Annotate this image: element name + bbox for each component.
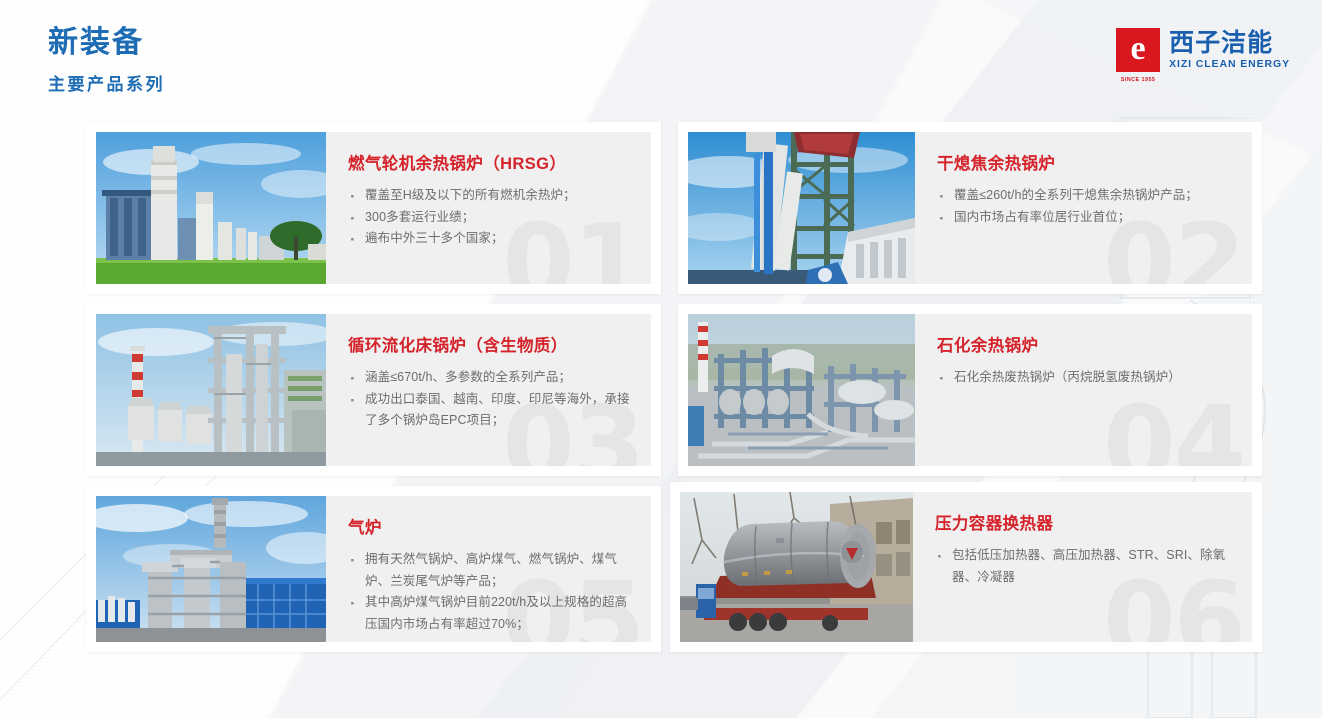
logo-name-en: XIZI CLEAN ENERGY bbox=[1169, 58, 1290, 70]
page-header: 新装备 主要产品系列 bbox=[48, 24, 165, 95]
product-card-grid: 燃气轮机余热锅炉（HRSG） 覆盖至H级及以下的所有燃机余热炉； 300多套运行… bbox=[86, 122, 1262, 652]
logo-name-cn: 西子洁能 bbox=[1169, 30, 1290, 56]
page-title: 新装备 bbox=[48, 24, 165, 62]
product-title: 循环流化床锅炉（含生物质） bbox=[348, 332, 635, 356]
list-item: 遍布中外三十多个国家； bbox=[348, 228, 635, 250]
logo-wordmark: 西子洁能 XIZI CLEAN ENERGY bbox=[1169, 30, 1290, 70]
product-title: 燃气轮机余热锅炉（HRSG） bbox=[348, 150, 635, 174]
product-bullet-list: 石化余热废热锅炉（丙烷脱氢废热锅炉） bbox=[937, 367, 1236, 389]
product-photo bbox=[96, 314, 326, 466]
product-bullet-list: 覆盖至H级及以下的所有燃机余热炉； 300多套运行业绩； 遍布中外三十多个国家； bbox=[348, 185, 635, 250]
list-item: 石化余热废热锅炉（丙烷脱氢废热锅炉） bbox=[937, 367, 1236, 389]
product-info: 干熄焦余热锅炉 覆盖≤260t/h的全系列干熄焦余热锅炉产品； 国内市场占有率位… bbox=[915, 132, 1252, 284]
list-item: 覆盖至H级及以下的所有燃机余热炉； bbox=[348, 185, 635, 207]
list-item: 涵盖≤670t/h、多参数的全系列产品； bbox=[348, 367, 635, 389]
product-card[interactable]: 石化余热锅炉 石化余热废热锅炉（丙烷脱氢废热锅炉） 04 bbox=[678, 304, 1262, 476]
product-photo bbox=[688, 314, 915, 466]
product-title: 干熄焦余热锅炉 bbox=[937, 150, 1236, 174]
list-item: 覆盖≤260t/h的全系列干熄焦余热锅炉产品； bbox=[937, 185, 1236, 207]
logo-glyph: e bbox=[1131, 32, 1146, 66]
company-logo: e SINCE 1955 西子洁能 XIZI CLEAN ENERGY bbox=[1116, 28, 1290, 72]
page-subtitle: 主要产品系列 bbox=[48, 70, 165, 95]
product-bullet-list: 拥有天然气锅炉、高炉煤气、燃气锅炉、煤气炉、兰炭尾气炉等产品； 其中高炉煤气锅炉… bbox=[348, 549, 635, 635]
product-bullet-list: 覆盖≤260t/h的全系列干熄焦余热锅炉产品； 国内市场占有率位居行业首位； bbox=[937, 185, 1236, 228]
product-info: 燃气轮机余热锅炉（HRSG） 覆盖至H级及以下的所有燃机余热炉； 300多套运行… bbox=[326, 132, 651, 284]
product-card[interactable]: 压力容器换热器 包括低压加热器、高压加热器、STR、SRI、除氧器、冷凝器 06 bbox=[670, 482, 1262, 652]
product-bullet-list: 包括低压加热器、高压加热器、STR、SRI、除氧器、冷凝器 bbox=[935, 545, 1236, 588]
product-title: 石化余热锅炉 bbox=[937, 332, 1236, 356]
list-item: 国内市场占有率位居行业首位； bbox=[937, 207, 1236, 229]
product-card[interactable]: 循环流化床锅炉（含生物质） 涵盖≤670t/h、多参数的全系列产品； 成功出口泰… bbox=[86, 304, 661, 476]
product-photo bbox=[680, 492, 913, 642]
list-item: 成功出口泰国、越南、印度、印尼等海外，承接了多个锅炉岛EPC项目； bbox=[348, 389, 635, 432]
product-card[interactable]: 干熄焦余热锅炉 覆盖≤260t/h的全系列干熄焦余热锅炉产品； 国内市场占有率位… bbox=[678, 122, 1262, 294]
list-item: 其中高炉煤气锅炉目前220t/h及以上规格的超高压国内市场占有率超过70%； bbox=[348, 592, 635, 635]
product-photo bbox=[96, 496, 326, 642]
logo-e-mark-icon: e SINCE 1955 bbox=[1116, 28, 1160, 72]
product-bullet-list: 涵盖≤670t/h、多参数的全系列产品； 成功出口泰国、越南、印度、印尼等海外，… bbox=[348, 367, 635, 432]
product-title: 压力容器换热器 bbox=[935, 510, 1236, 534]
list-item: 拥有天然气锅炉、高炉煤气、燃气锅炉、煤气炉、兰炭尾气炉等产品； bbox=[348, 549, 635, 592]
product-photo bbox=[688, 132, 915, 284]
product-photo bbox=[96, 132, 326, 284]
list-item: 包括低压加热器、高压加热器、STR、SRI、除氧器、冷凝器 bbox=[935, 545, 1236, 588]
product-card[interactable]: 燃气轮机余热锅炉（HRSG） 覆盖至H级及以下的所有燃机余热炉； 300多套运行… bbox=[86, 122, 661, 294]
product-info: 压力容器换热器 包括低压加热器、高压加热器、STR、SRI、除氧器、冷凝器 bbox=[913, 492, 1252, 642]
logo-since-text: SINCE 1955 bbox=[1116, 77, 1160, 83]
product-info: 循环流化床锅炉（含生物质） 涵盖≤670t/h、多参数的全系列产品； 成功出口泰… bbox=[326, 314, 651, 466]
product-title: 气炉 bbox=[348, 514, 635, 538]
product-card[interactable]: 气炉 拥有天然气锅炉、高炉煤气、燃气锅炉、煤气炉、兰炭尾气炉等产品； 其中高炉煤… bbox=[86, 486, 661, 652]
product-info: 气炉 拥有天然气锅炉、高炉煤气、燃气锅炉、煤气炉、兰炭尾气炉等产品； 其中高炉煤… bbox=[326, 496, 651, 642]
list-item: 300多套运行业绩； bbox=[348, 207, 635, 229]
product-info: 石化余热锅炉 石化余热废热锅炉（丙烷脱氢废热锅炉） bbox=[915, 314, 1252, 466]
